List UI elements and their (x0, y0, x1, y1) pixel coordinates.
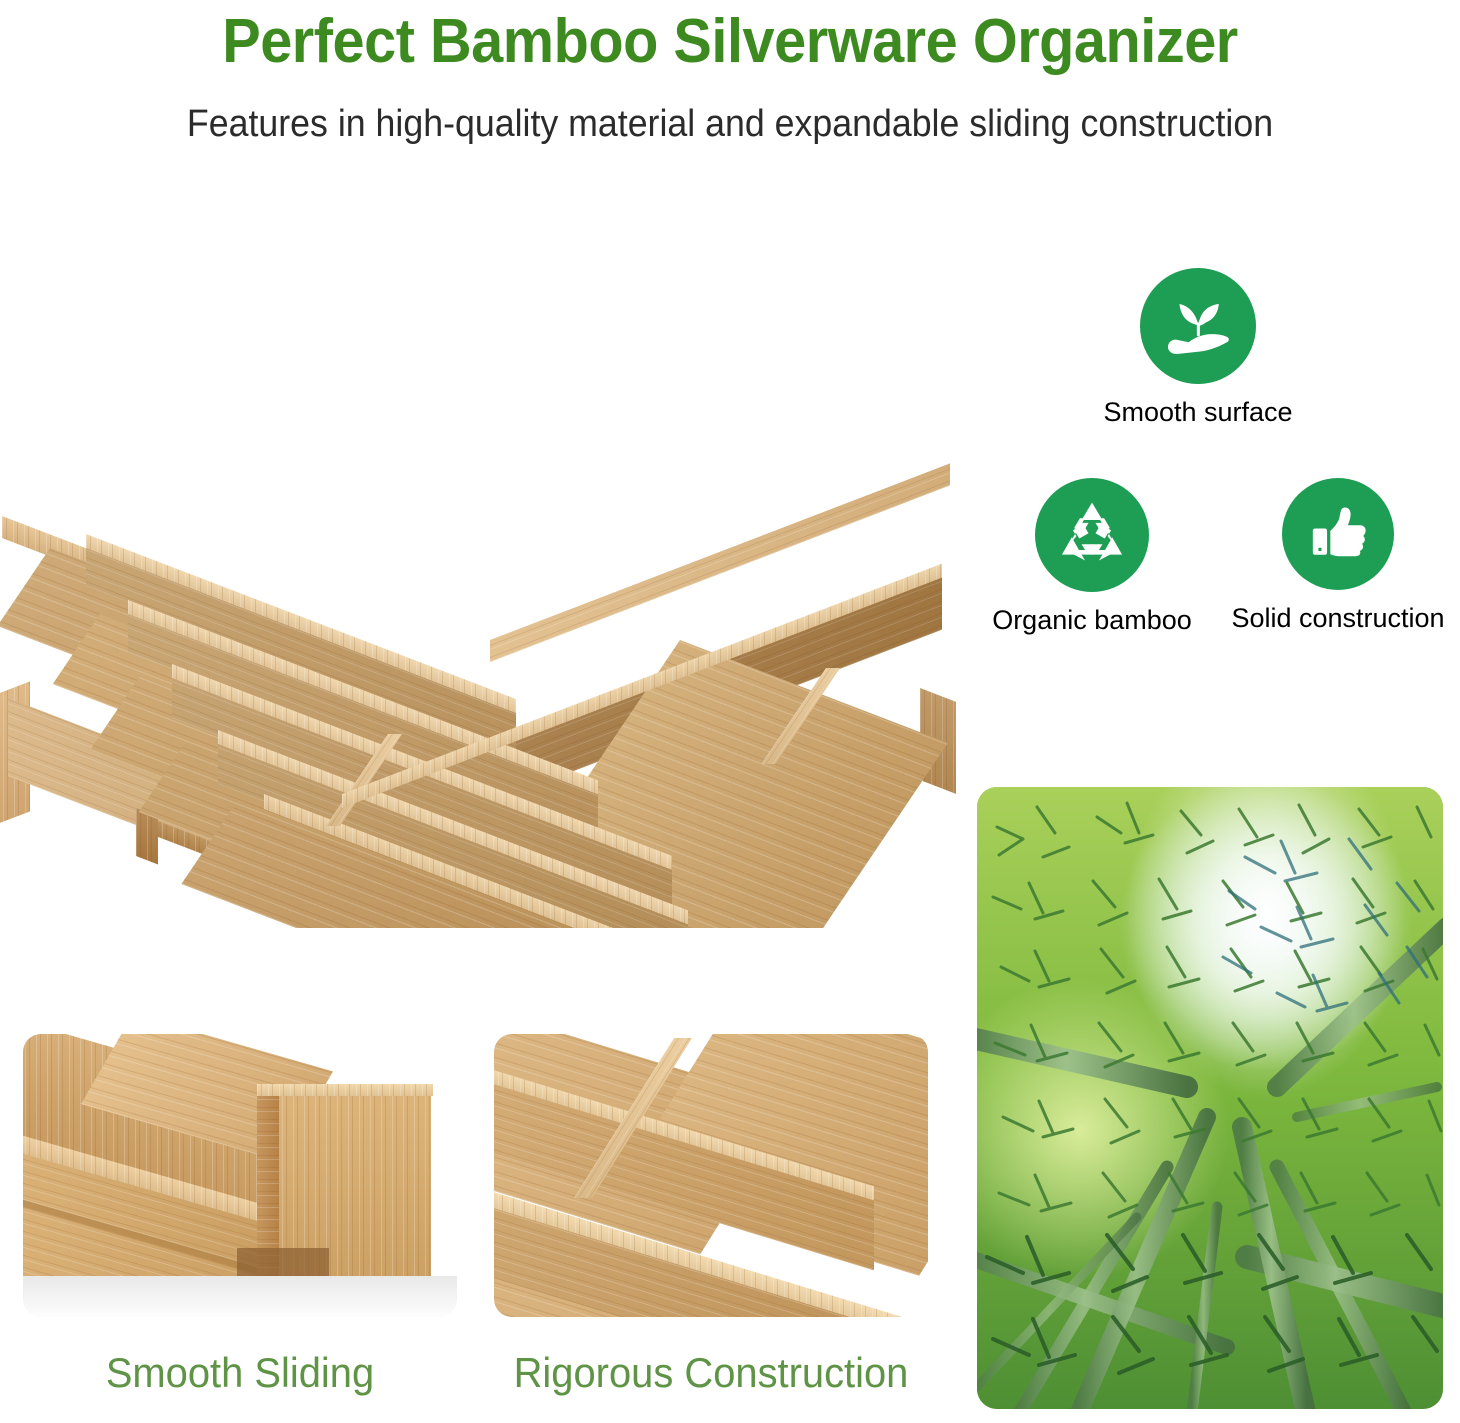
feature-badge-smooth-surface[interactable]: Smooth surface (1140, 268, 1256, 428)
bamboo-tray-illustration (0, 248, 990, 928)
gallery-photo-smooth-sliding (23, 1034, 457, 1317)
bamboo-forest-photo (977, 787, 1443, 1409)
feature-badge-label: Organic bamboo (992, 604, 1192, 636)
page-subtitle: Features in high-quality material and ex… (44, 100, 1416, 148)
feature-badge-label: Solid construction (1231, 602, 1444, 634)
page-title: Perfect Bamboo Silverware Organizer (51, 4, 1409, 80)
recycle-icon (1035, 478, 1149, 592)
feature-badge-solid-construction[interactable]: Solid construction (1282, 478, 1394, 638)
feature-badge-organic-bamboo[interactable]: Organic bamboo (1035, 478, 1149, 638)
detail-end-block-top (257, 1084, 433, 1096)
feature-badge-label: Smooth surface (1103, 396, 1292, 428)
gallery-caption-rigorous-construction: Rigorous Construction (505, 1348, 917, 1398)
thumbs-up-icon (1282, 478, 1394, 590)
main-product-photo (0, 248, 990, 928)
gallery-photo-rigorous-construction (494, 1034, 928, 1317)
infographic-page: Perfect Bamboo Silverware Organizer Feat… (0, 0, 1460, 1423)
detail-foot-shadow (237, 1248, 329, 1278)
hand-plant-icon (1140, 268, 1256, 384)
gallery-caption-smooth-sliding: Smooth Sliding (34, 1348, 446, 1398)
detail-surface-shadow (23, 1276, 457, 1317)
